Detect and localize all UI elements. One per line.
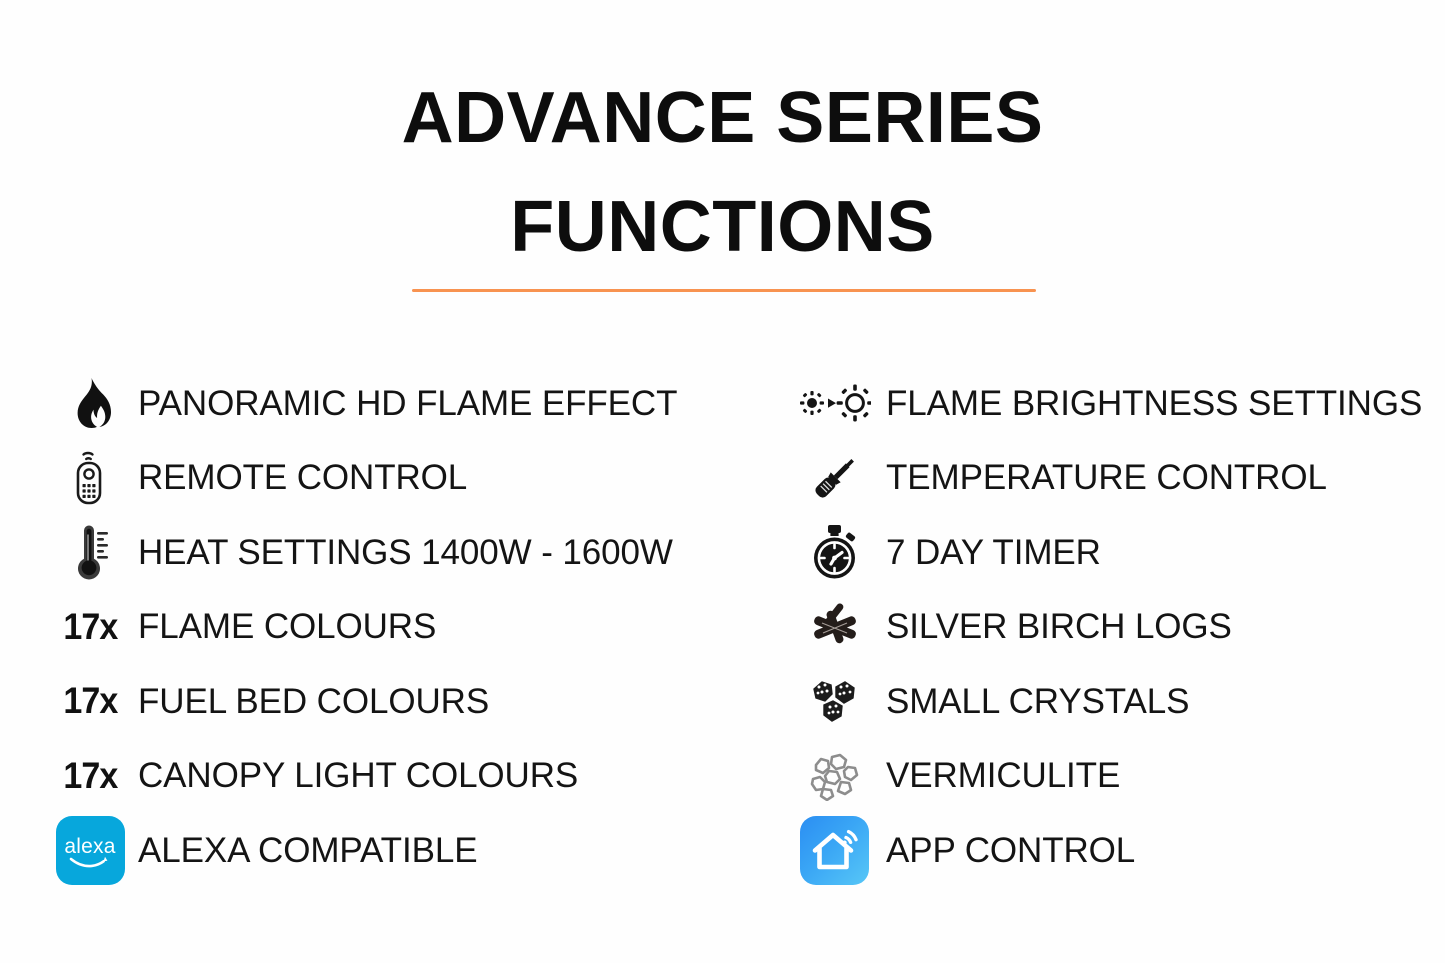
feature-label: 7 DAY TIMER	[886, 535, 1101, 570]
feature-item-flame-colours: 17x FLAME COLOURS	[42, 590, 742, 665]
feature-column-right: FLAME BRIGHTNESS SETTINGS	[783, 366, 1443, 888]
thermometer-icon	[42, 515, 138, 590]
feature-item-alexa-compatible: alexa ALEXA COMPATIBLE	[42, 813, 742, 888]
feature-label: FLAME COLOURS	[138, 609, 436, 644]
count-badge-label: 17x	[63, 680, 117, 722]
feature-column-left: PANORAMIC HD FLAME EFFECT	[42, 366, 742, 888]
feature-label: TEMPERATURE CONTROL	[886, 460, 1327, 495]
functions-infographic: ADVANCE SERIES FUNCTIONS PANORAMIC HD FL…	[0, 0, 1445, 963]
title-divider	[412, 289, 1036, 292]
feature-item-small-crystals: SMALL CRYSTALS	[783, 664, 1443, 739]
feature-label: HEAT SETTINGS 1400W - 1600W	[138, 535, 673, 570]
count-badge-17x: 17x	[42, 590, 138, 665]
feature-label: CANOPY LIGHT COLOURS	[138, 758, 578, 793]
app-control-icon-cell	[783, 813, 886, 888]
feature-item-7-day-timer: 7 DAY TIMER	[783, 515, 1443, 590]
feature-item-flame-brightness: FLAME BRIGHTNESS SETTINGS	[783, 366, 1443, 441]
remote-control-icon	[42, 441, 138, 516]
feature-item-fuel-bed-colours: 17x FUEL BED COLOURS	[42, 664, 742, 739]
feature-item-remote-control: REMOTE CONTROL	[42, 441, 742, 516]
logs-icon	[783, 590, 886, 665]
feature-label: FUEL BED COLOURS	[138, 684, 489, 719]
feature-item-canopy-light-colours: 17x CANOPY LIGHT COLOURS	[42, 739, 742, 814]
count-badge-17x: 17x	[42, 739, 138, 814]
feature-label: SMALL CRYSTALS	[886, 684, 1189, 719]
app-control-icon	[800, 816, 869, 885]
page-header: ADVANCE SERIES FUNCTIONS	[0, 64, 1445, 283]
alexa-icon-cell: alexa	[42, 813, 138, 888]
flame-icon	[42, 366, 138, 441]
feature-label: FLAME BRIGHTNESS SETTINGS	[886, 386, 1422, 421]
feature-item-temperature-control: TEMPERATURE CONTROL	[783, 441, 1443, 516]
svg-text:alexa: alexa	[64, 835, 115, 858]
brightness-icon	[783, 366, 886, 441]
feature-label: REMOTE CONTROL	[138, 460, 467, 495]
feature-label: SILVER BIRCH LOGS	[886, 609, 1232, 644]
alexa-icon: alexa	[56, 816, 125, 885]
count-badge-label: 17x	[63, 755, 117, 797]
page-title-line-1: ADVANCE SERIES	[0, 64, 1445, 173]
stopwatch-icon	[783, 515, 886, 590]
feature-label: ALEXA COMPATIBLE	[138, 833, 477, 868]
count-badge-label: 17x	[63, 606, 117, 648]
feature-item-silver-birch-logs: SILVER BIRCH LOGS	[783, 590, 1443, 665]
page-title-line-2: FUNCTIONS	[0, 173, 1445, 282]
feature-label: VERMICULITE	[886, 758, 1120, 793]
feature-label: APP CONTROL	[886, 833, 1135, 868]
count-badge-17x: 17x	[42, 664, 138, 739]
feature-item-app-control: APP CONTROL	[783, 813, 1443, 888]
crystals-icon	[783, 664, 886, 739]
feature-item-vermiculite: VERMICULITE	[783, 739, 1443, 814]
vermiculite-icon	[783, 739, 886, 814]
screwdriver-icon	[783, 441, 886, 516]
feature-item-heat-settings: HEAT SETTINGS 1400W - 1600W	[42, 515, 742, 590]
feature-item-panoramic-flame: PANORAMIC HD FLAME EFFECT	[42, 366, 742, 441]
feature-label: PANORAMIC HD FLAME EFFECT	[138, 386, 677, 421]
